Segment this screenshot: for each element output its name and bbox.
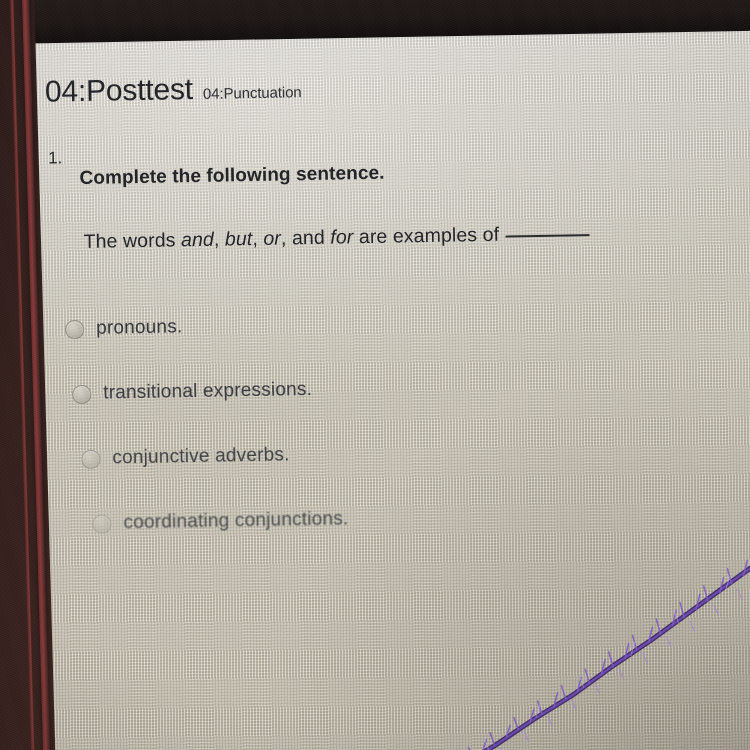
sentence-sep-1: ,: [214, 228, 225, 250]
sentence-prefix: The words: [83, 229, 181, 253]
fill-in-blank: [505, 234, 589, 237]
answer-option-1[interactable]: transitional expressions.: [72, 379, 312, 405]
answer-option-3[interactable]: coordinating conjunctions.: [92, 508, 348, 534]
question-number: 1.: [48, 148, 63, 168]
sentence-sep-3: , and: [281, 227, 331, 250]
answer-option-2[interactable]: conjunctive adverbs.: [81, 444, 290, 470]
sentence-word-for: for: [330, 226, 353, 248]
radio-button-icon[interactable]: [72, 384, 91, 403]
page-title-main: 04:Posttest: [45, 73, 193, 110]
radio-button-icon[interactable]: [65, 319, 84, 338]
sentence-word-or: or: [263, 228, 281, 250]
page-title: 04:Posttest 04:Punctuation: [45, 71, 302, 109]
answer-option-label: pronouns.: [96, 316, 183, 340]
radio-button-icon[interactable]: [81, 449, 100, 468]
sentence-suffix: are examples of: [353, 224, 499, 249]
radio-button-icon[interactable]: [92, 514, 111, 533]
answer-option-label: conjunctive adverbs.: [112, 444, 290, 469]
sentence-word-but: but: [225, 228, 253, 250]
sentence-word-and: and: [181, 229, 214, 252]
lcd-screen: 04:Posttest 04:Punctuation 1. Complete t…: [22, 23, 750, 750]
answer-option-0[interactable]: pronouns.: [65, 316, 183, 340]
answer-option-label: coordinating conjunctions.: [123, 508, 348, 534]
photo-of-screen: 04: English 23 Objectives 04:Posttest 04…: [0, 0, 750, 750]
question-prompt: Complete the following sentence.: [79, 163, 384, 190]
quiz-page: 04:Posttest 04:Punctuation 1. Complete t…: [22, 23, 750, 750]
sentence-sep-2: ,: [252, 228, 263, 250]
page-title-subtitle: 04:Punctuation: [203, 84, 302, 103]
question-sentence: The words and, but, or, and for are exam…: [83, 222, 589, 254]
answer-option-label: transitional expressions.: [103, 379, 312, 405]
